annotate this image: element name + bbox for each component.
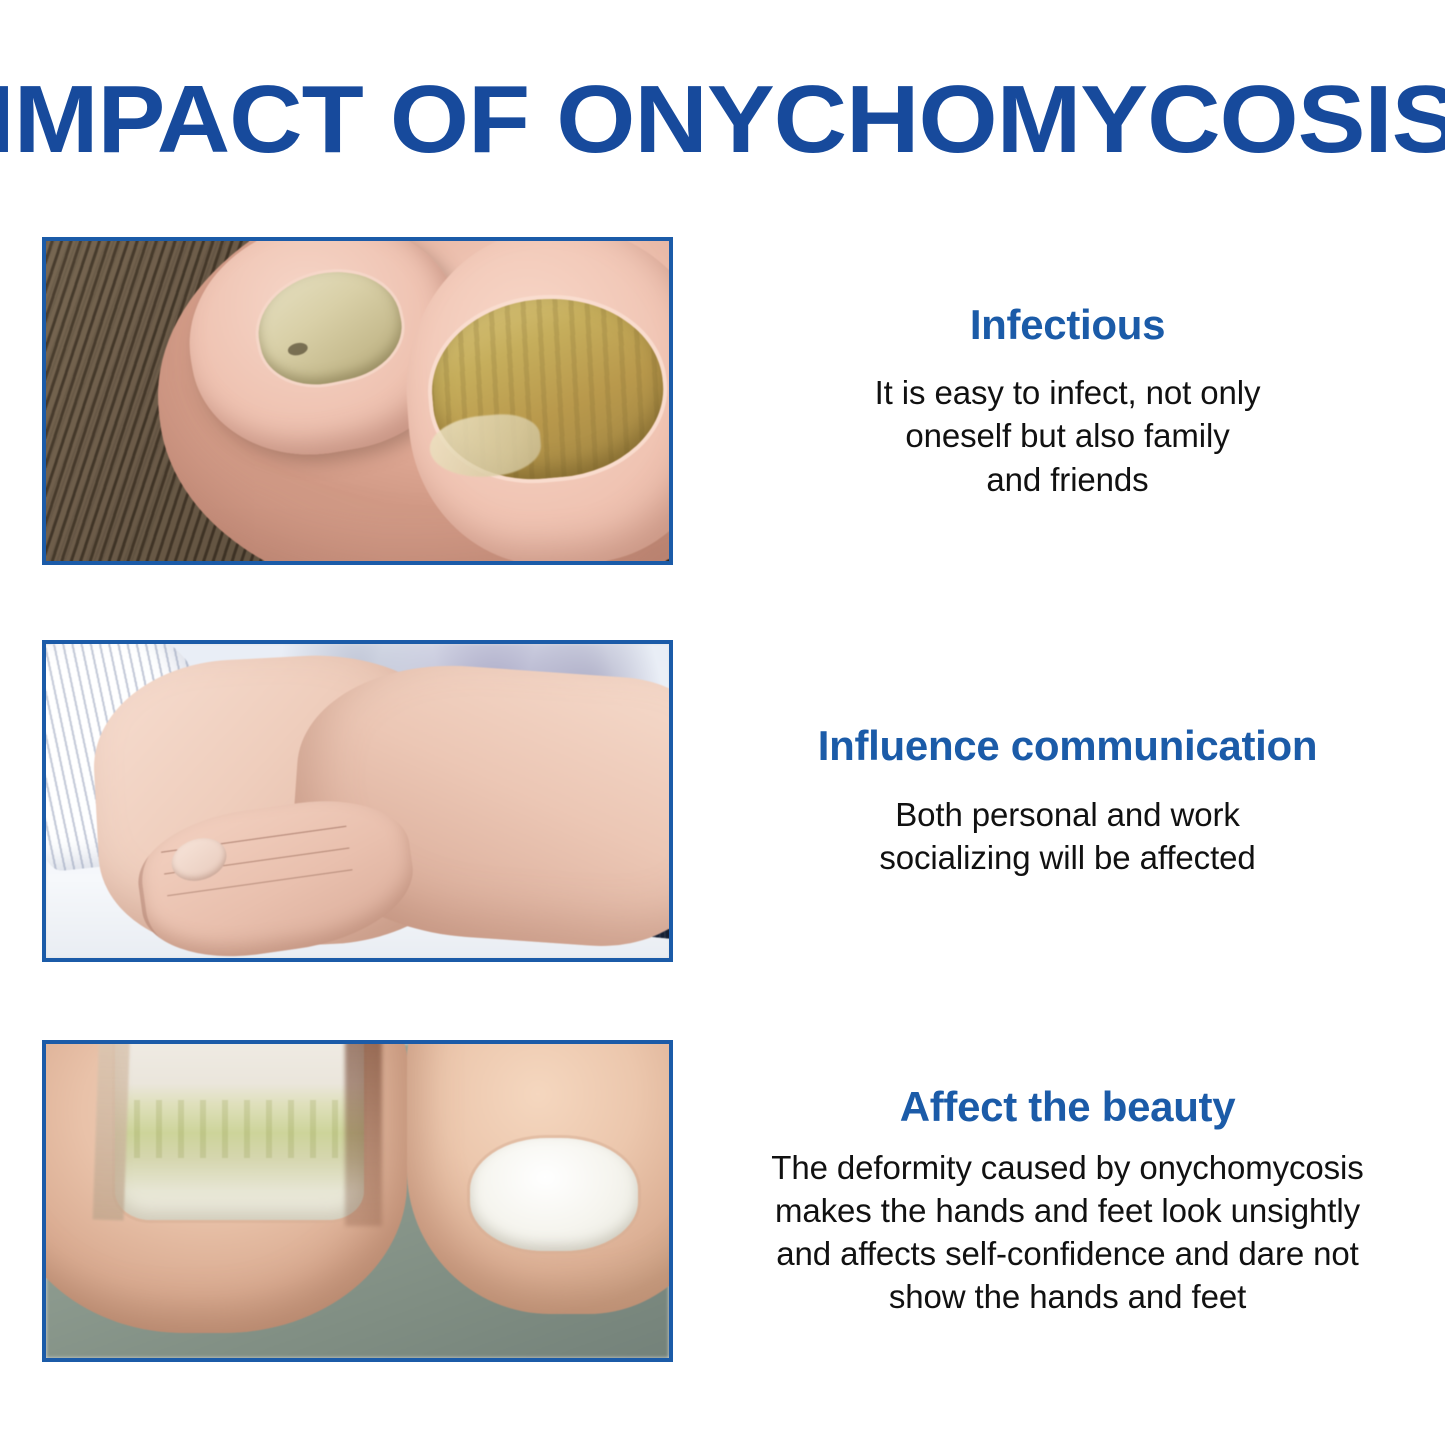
photo-softening-overlay xyxy=(46,241,669,561)
section-body-affect-the-beauty: The deformity caused by onychomycosis ma… xyxy=(771,1147,1363,1319)
section-heading-affect-the-beauty: Affect the beauty xyxy=(900,1083,1236,1131)
page-title: IMPACT OF ONYCHOMYCOSIS xyxy=(0,72,1445,168)
business-handshake-photo xyxy=(42,640,673,962)
infographic-page: IMPACT OF ONYCHOMYCOSIS Infectious It is… xyxy=(0,0,1445,1445)
section-heading-infectious: Infectious xyxy=(970,301,1165,349)
text-column-3: Affect the beauty The deformity caused b… xyxy=(690,1040,1445,1362)
section-body-infectious: It is easy to infect, not only oneself b… xyxy=(875,371,1261,502)
photo-canvas-2 xyxy=(46,644,669,958)
infected-toenails-on-wood-photo xyxy=(42,237,673,565)
photo-canvas-3 xyxy=(46,1044,669,1358)
text-column-2: Influence communication Both personal an… xyxy=(690,640,1445,962)
text-column-1: Infectious It is easy to infect, not onl… xyxy=(690,237,1445,565)
photo-canvas-1 xyxy=(46,241,669,561)
section-influence-communication: Influence communication Both personal an… xyxy=(0,640,1445,962)
section-body-influence-communication: Both personal and work socializing will … xyxy=(879,793,1255,880)
photo-softening-overlay xyxy=(46,1044,669,1358)
photo-softening-overlay xyxy=(46,644,669,958)
section-heading-influence-communication: Influence communication xyxy=(818,722,1318,770)
section-affect-the-beauty: Affect the beauty The deformity caused b… xyxy=(0,1040,1445,1362)
section-infectious: Infectious It is easy to infect, not onl… xyxy=(0,237,1445,565)
close-up-toenails-photo xyxy=(42,1040,673,1362)
